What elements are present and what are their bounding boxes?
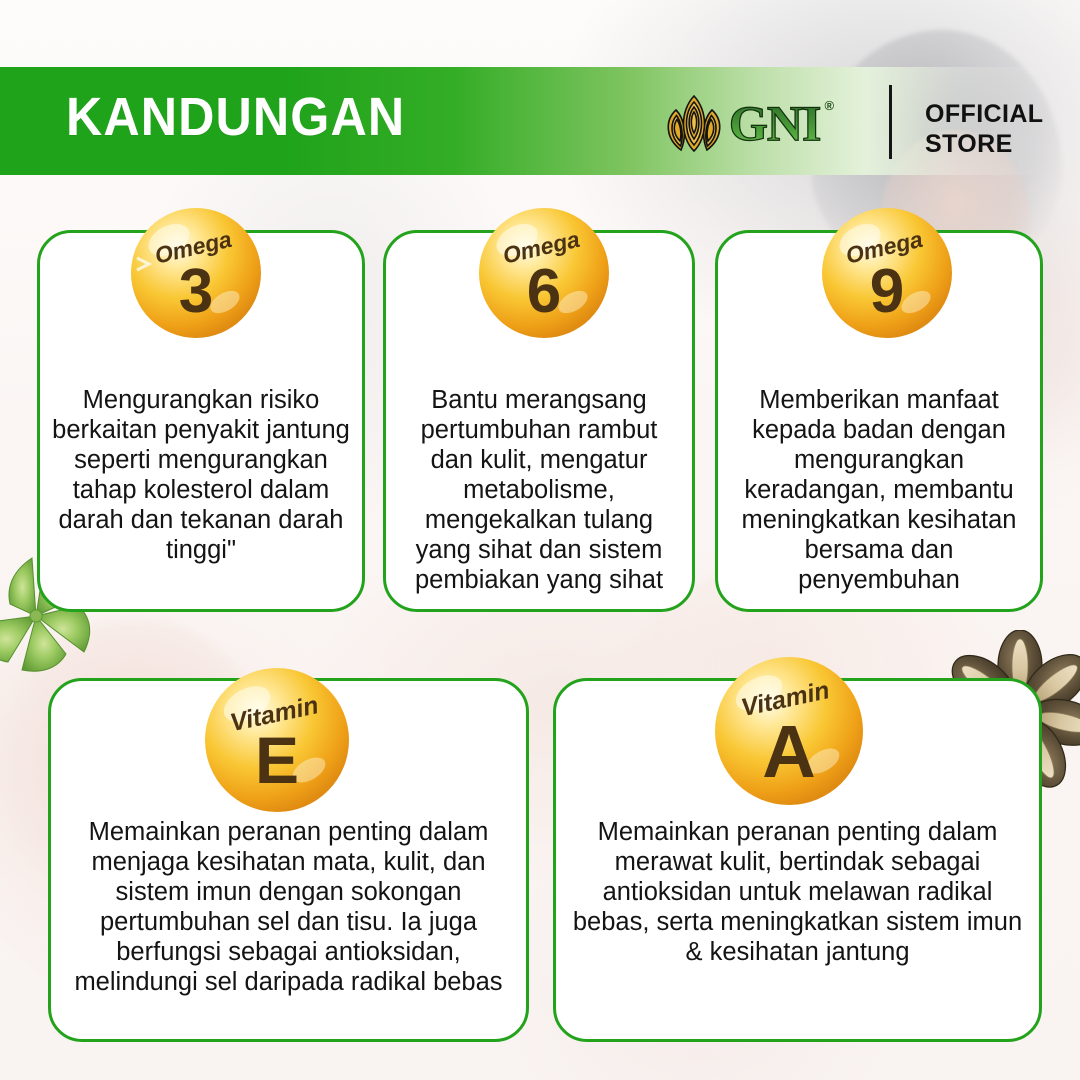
page-title: KANDUNGAN [66, 90, 405, 144]
nutrient-card-text: Memainkan peranan penting dalam menjaga … [51, 817, 526, 997]
badge-vitamin-a-icon: Vitamin A [713, 655, 865, 807]
header-divider [889, 85, 892, 159]
svg-text:6: 6 [527, 257, 561, 326]
badge-omega9-icon: Omega 9 [820, 206, 954, 340]
nutrient-card-text: Memberikan manfaat kepada badan dengan m… [718, 385, 1040, 596]
badge-omega6-icon: Omega 6 [477, 206, 611, 340]
brand-logo: GNI ® [663, 88, 834, 158]
registered-trademark-icon: ® [824, 98, 834, 113]
svg-text:9: 9 [870, 257, 904, 326]
official-store-line2: STORE [925, 130, 1043, 160]
nutrient-card-text: Bantu merangsang pertumbuhan rambut dan … [386, 385, 692, 596]
badge-vitamin-e-icon: Vitamin E [203, 666, 351, 814]
svg-text:E: E [255, 723, 299, 797]
promo-poster: KANDUNGAN [0, 0, 1080, 1080]
nutrient-card-text: Mengurangkan risiko berkaitan penyakit j… [40, 385, 362, 565]
svg-text:3: 3 [179, 257, 213, 326]
brand-wordmark: GNI [727, 98, 820, 148]
official-store-line1: OFFICIAL [925, 100, 1043, 130]
gni-leaf-icon [663, 94, 725, 152]
nutrient-card-text: Memainkan peranan penting dalam merawat … [556, 817, 1039, 967]
svg-text:A: A [762, 710, 815, 793]
official-store-label: OFFICIAL STORE [925, 100, 1043, 159]
badge-omega3-icon: Omega 3 [129, 206, 263, 340]
